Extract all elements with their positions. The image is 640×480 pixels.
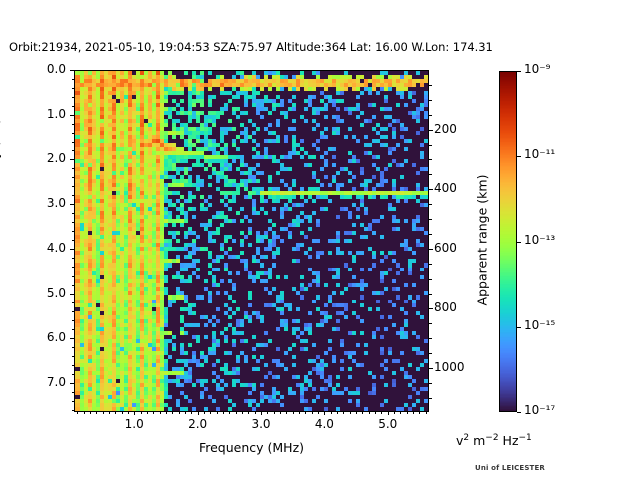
y-tick-label: 0.0 bbox=[28, 62, 66, 76]
y-minor-tick bbox=[72, 150, 75, 151]
x-minor-tick bbox=[96, 411, 97, 414]
x-minor-tick bbox=[191, 411, 192, 414]
y-minor-tick bbox=[72, 410, 75, 411]
y-tick-mark bbox=[70, 294, 74, 295]
y-minor-tick bbox=[72, 79, 75, 80]
colorbar-gradient bbox=[500, 72, 516, 411]
colorbar-tick-label: 10⁻¹⁷ bbox=[524, 403, 555, 417]
y-tick-mark bbox=[70, 70, 74, 71]
x-minor-tick bbox=[426, 411, 427, 414]
y-axis-label: Time Delay (ms) bbox=[0, 70, 2, 270]
x-minor-tick bbox=[242, 411, 243, 414]
colorbar bbox=[499, 71, 517, 412]
x-tick-label: 5.0 bbox=[368, 417, 408, 431]
right-minor-tick bbox=[429, 204, 432, 205]
x-minor-tick bbox=[350, 411, 351, 414]
y-tick-label: 6.0 bbox=[28, 330, 66, 344]
right-minor-tick bbox=[429, 85, 432, 86]
y-minor-tick bbox=[72, 401, 75, 402]
y-minor-tick bbox=[72, 365, 75, 366]
x-minor-tick bbox=[419, 411, 420, 414]
right-tick-label: 1000 bbox=[434, 360, 465, 374]
x-minor-tick bbox=[362, 411, 363, 414]
x-minor-tick bbox=[179, 411, 180, 414]
y-minor-tick bbox=[72, 240, 75, 241]
x-minor-tick bbox=[299, 411, 300, 414]
y-tick-mark bbox=[70, 204, 74, 205]
y-minor-tick bbox=[72, 222, 75, 223]
right-minor-tick bbox=[429, 115, 432, 116]
y-minor-tick bbox=[72, 106, 75, 107]
x-tick-label: 1.0 bbox=[114, 417, 154, 431]
right-tick-label: 200 bbox=[434, 122, 457, 136]
y-minor-tick bbox=[72, 168, 75, 169]
x-minor-tick bbox=[286, 411, 287, 414]
right-tick-mark bbox=[429, 249, 433, 250]
right-minor-tick bbox=[429, 264, 432, 265]
x-minor-tick bbox=[77, 411, 78, 414]
y-minor-tick bbox=[72, 267, 75, 268]
credit-label: Uni of LEICESTER bbox=[475, 464, 545, 472]
x-minor-tick bbox=[312, 411, 313, 414]
plot-title: Orbit:21934, 2021-05-10, 19:04:53 SZA:75… bbox=[9, 40, 493, 54]
right-tick-label: 800 bbox=[434, 300, 457, 314]
right-minor-tick bbox=[429, 219, 432, 220]
x-minor-tick bbox=[343, 411, 344, 414]
y-minor-tick bbox=[72, 311, 75, 312]
y-tick-label: 7.0 bbox=[28, 375, 66, 389]
x-tick-mark bbox=[324, 411, 325, 415]
right-tick-mark bbox=[429, 308, 433, 309]
colorbar-tick-label: 10⁻¹³ bbox=[524, 233, 555, 247]
right-minor-tick bbox=[429, 159, 432, 160]
y-minor-tick bbox=[72, 356, 75, 357]
y-minor-tick bbox=[72, 97, 75, 98]
y-tick-label: 2.0 bbox=[28, 151, 66, 165]
right-minor-tick bbox=[429, 279, 432, 280]
right-axis-label: Apparent range (km) bbox=[475, 130, 490, 350]
x-minor-tick bbox=[394, 411, 395, 414]
y-minor-tick bbox=[72, 124, 75, 125]
x-tick-mark bbox=[388, 411, 389, 415]
right-minor-tick bbox=[429, 338, 432, 339]
y-tick-mark bbox=[70, 115, 74, 116]
right-tick-mark bbox=[429, 368, 433, 369]
x-minor-tick bbox=[331, 411, 332, 414]
x-minor-tick bbox=[318, 411, 319, 414]
right-minor-tick bbox=[429, 323, 432, 324]
colorbar-tick-label: 10⁻⁹ bbox=[524, 62, 550, 76]
y-minor-tick bbox=[72, 142, 75, 143]
x-minor-tick bbox=[248, 411, 249, 414]
colorbar-tick-label: 10⁻¹⁵ bbox=[524, 318, 555, 332]
y-minor-tick bbox=[72, 285, 75, 286]
x-minor-tick bbox=[337, 411, 338, 414]
y-minor-tick bbox=[72, 186, 75, 187]
x-tick-label: 4.0 bbox=[304, 417, 344, 431]
y-tick-label: 1.0 bbox=[28, 107, 66, 121]
x-minor-tick bbox=[147, 411, 148, 414]
colorbar-tick-label: 10⁻¹¹ bbox=[524, 147, 555, 161]
colorbar-tick-mark bbox=[517, 242, 521, 243]
right-minor-tick bbox=[429, 353, 432, 354]
x-minor-tick bbox=[356, 411, 357, 414]
right-minor-tick bbox=[429, 234, 432, 235]
y-tick-mark bbox=[70, 249, 74, 250]
x-minor-tick bbox=[413, 411, 414, 414]
x-minor-tick bbox=[84, 411, 85, 414]
y-minor-tick bbox=[72, 133, 75, 134]
ionogram-heatmap bbox=[75, 71, 428, 411]
x-minor-tick bbox=[236, 411, 237, 414]
x-minor-tick bbox=[141, 411, 142, 414]
colorbar-units-label: v2 m−2 Hz−1 bbox=[456, 433, 532, 448]
x-tick-label: 2.0 bbox=[178, 417, 218, 431]
x-minor-tick bbox=[267, 411, 268, 414]
right-minor-tick bbox=[429, 100, 432, 101]
y-tick-mark bbox=[70, 338, 74, 339]
right-tick-mark bbox=[429, 189, 433, 190]
right-tick-label: 600 bbox=[434, 241, 457, 255]
right-minor-tick bbox=[429, 174, 432, 175]
x-tick-mark bbox=[261, 411, 262, 415]
x-tick-mark bbox=[198, 411, 199, 415]
x-minor-tick bbox=[223, 411, 224, 414]
ionogram-plot-area bbox=[74, 70, 429, 412]
colorbar-tick-mark bbox=[517, 71, 521, 72]
x-minor-tick bbox=[280, 411, 281, 414]
x-minor-tick bbox=[375, 411, 376, 414]
x-minor-tick bbox=[204, 411, 205, 414]
y-minor-tick bbox=[72, 347, 75, 348]
x-minor-tick bbox=[172, 411, 173, 414]
y-tick-mark bbox=[70, 383, 74, 384]
y-tick-mark bbox=[70, 159, 74, 160]
x-minor-tick bbox=[255, 411, 256, 414]
x-minor-tick bbox=[217, 411, 218, 414]
right-tick-mark bbox=[429, 130, 433, 131]
right-tick-label: 400 bbox=[434, 181, 457, 195]
y-minor-tick bbox=[72, 177, 75, 178]
right-minor-tick bbox=[429, 383, 432, 384]
x-minor-tick bbox=[166, 411, 167, 414]
x-minor-tick bbox=[153, 411, 154, 414]
x-axis-label: Frequency (MHz) bbox=[74, 440, 429, 455]
colorbar-tick-mark bbox=[517, 156, 521, 157]
y-tick-label: 5.0 bbox=[28, 286, 66, 300]
y-minor-tick bbox=[72, 329, 75, 330]
x-tick-label: 3.0 bbox=[241, 417, 281, 431]
y-minor-tick bbox=[72, 231, 75, 232]
x-minor-tick bbox=[229, 411, 230, 414]
right-minor-tick bbox=[429, 294, 432, 295]
y-minor-tick bbox=[72, 213, 75, 214]
x-minor-tick bbox=[293, 411, 294, 414]
x-minor-tick bbox=[160, 411, 161, 414]
x-minor-tick bbox=[381, 411, 382, 414]
colorbar-tick-mark bbox=[517, 412, 521, 413]
y-minor-tick bbox=[72, 258, 75, 259]
y-minor-tick bbox=[72, 195, 75, 196]
y-minor-tick bbox=[72, 276, 75, 277]
right-minor-tick bbox=[429, 145, 432, 146]
x-minor-tick bbox=[400, 411, 401, 414]
x-minor-tick bbox=[128, 411, 129, 414]
x-minor-tick bbox=[407, 411, 408, 414]
x-minor-tick bbox=[109, 411, 110, 414]
x-minor-tick bbox=[369, 411, 370, 414]
x-minor-tick bbox=[90, 411, 91, 414]
x-tick-mark bbox=[134, 411, 135, 415]
x-minor-tick bbox=[305, 411, 306, 414]
x-minor-tick bbox=[122, 411, 123, 414]
y-minor-tick bbox=[72, 374, 75, 375]
x-minor-tick bbox=[103, 411, 104, 414]
y-tick-label: 4.0 bbox=[28, 241, 66, 255]
y-tick-label: 3.0 bbox=[28, 196, 66, 210]
x-minor-tick bbox=[185, 411, 186, 414]
colorbar-tick-mark bbox=[517, 327, 521, 328]
x-minor-tick bbox=[115, 411, 116, 414]
y-minor-tick bbox=[72, 392, 75, 393]
y-minor-tick bbox=[72, 88, 75, 89]
y-minor-tick bbox=[72, 320, 75, 321]
x-minor-tick bbox=[210, 411, 211, 414]
right-minor-tick bbox=[429, 398, 432, 399]
x-minor-tick bbox=[274, 411, 275, 414]
y-minor-tick bbox=[72, 302, 75, 303]
